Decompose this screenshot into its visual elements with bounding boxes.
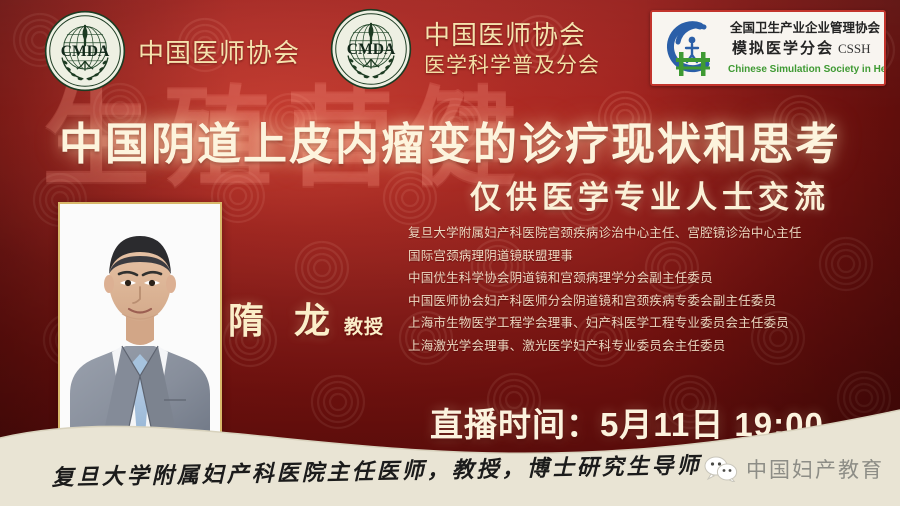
- speaker-portrait: [58, 202, 222, 452]
- credential-line: 上海市生物医学工程学会理事、妇产科医学工程专业委员会主任委员: [408, 312, 896, 335]
- header-logo-row: CMDA 中国医师协会: [0, 0, 900, 96]
- wechat-icon: [704, 456, 738, 482]
- svg-text:全国卫生产业企业管理协会: 全国卫生产业企业管理协会: [729, 20, 881, 35]
- speaker-credentials-list: 复旦大学附属妇产科医院宫颈疾病诊治中心主任、宫腔镜诊治中心主任 国际宫颈病理阴道…: [408, 222, 896, 357]
- credential-line: 上海激光学会理事、激光医学妇产科专业委员会主任委员: [408, 335, 896, 358]
- svg-text:CMDA: CMDA: [61, 43, 110, 60]
- cmda-seal-icon: CMDA: [44, 10, 126, 92]
- credential-line: 中国医师协会妇产科医师分会阴道镜和宫颈疾病专委会副主任委员: [408, 290, 896, 313]
- credential-line: 复旦大学附属妇产科医院宫颈疾病诊治中心主任、宫腔镜诊治中心主任: [408, 222, 896, 245]
- org-name-line1: 中国医师协会: [424, 19, 600, 52]
- svg-text:模拟医学分会: 模拟医学分会: [732, 39, 834, 57]
- wechat-account-badge: 中国妇产教育: [704, 454, 884, 484]
- cmda-seal-icon: CMDA: [330, 8, 412, 90]
- speaker-name: 隋 龙: [228, 292, 340, 344]
- org-name-line2: 医学科学普及分会: [424, 52, 600, 79]
- page-subtitle: 仅供医学专业人士交流: [400, 172, 900, 217]
- webinar-poster: 生殖营健 CMDA: [0, 0, 900, 506]
- svg-text:CMDA: CMDA: [347, 41, 396, 58]
- live-broadcast-time: 直播时间：5月11日 19:00: [430, 398, 824, 446]
- credential-line: 国际宫颈病理阴道镜联盟理事: [408, 245, 896, 268]
- svg-text:CSSH: CSSH: [838, 41, 871, 56]
- logo-cmda-secondary: CMDA 中国医师协: [330, 8, 600, 90]
- logo-cmda-primary: CMDA 中国医师协会: [44, 10, 300, 92]
- page-title: 中国阴道上皮内瘤变的诊疗现状和思考: [0, 108, 900, 172]
- logo-cmda-primary-label: 中国医师协会: [138, 33, 300, 70]
- wechat-account-name: 中国妇产教育: [746, 454, 884, 484]
- logo-cssh: 全国卫生产业企业管理协会 模拟医学分会 CSSH Chinese Simulat…: [650, 10, 886, 86]
- svg-text:Chinese Simulation Society in: Chinese Simulation Society in Healthcare: [728, 64, 884, 75]
- speaker-academic-title: 教授: [344, 312, 384, 339]
- logo-cmda-secondary-labels: 中国医师协会 医学科学普及分会: [424, 19, 600, 79]
- credential-line: 中国优生科学协会阴道镜和宫颈病理学分会副主任委员: [408, 267, 896, 290]
- speaker-name-block: 隋 龙 教授: [228, 292, 384, 344]
